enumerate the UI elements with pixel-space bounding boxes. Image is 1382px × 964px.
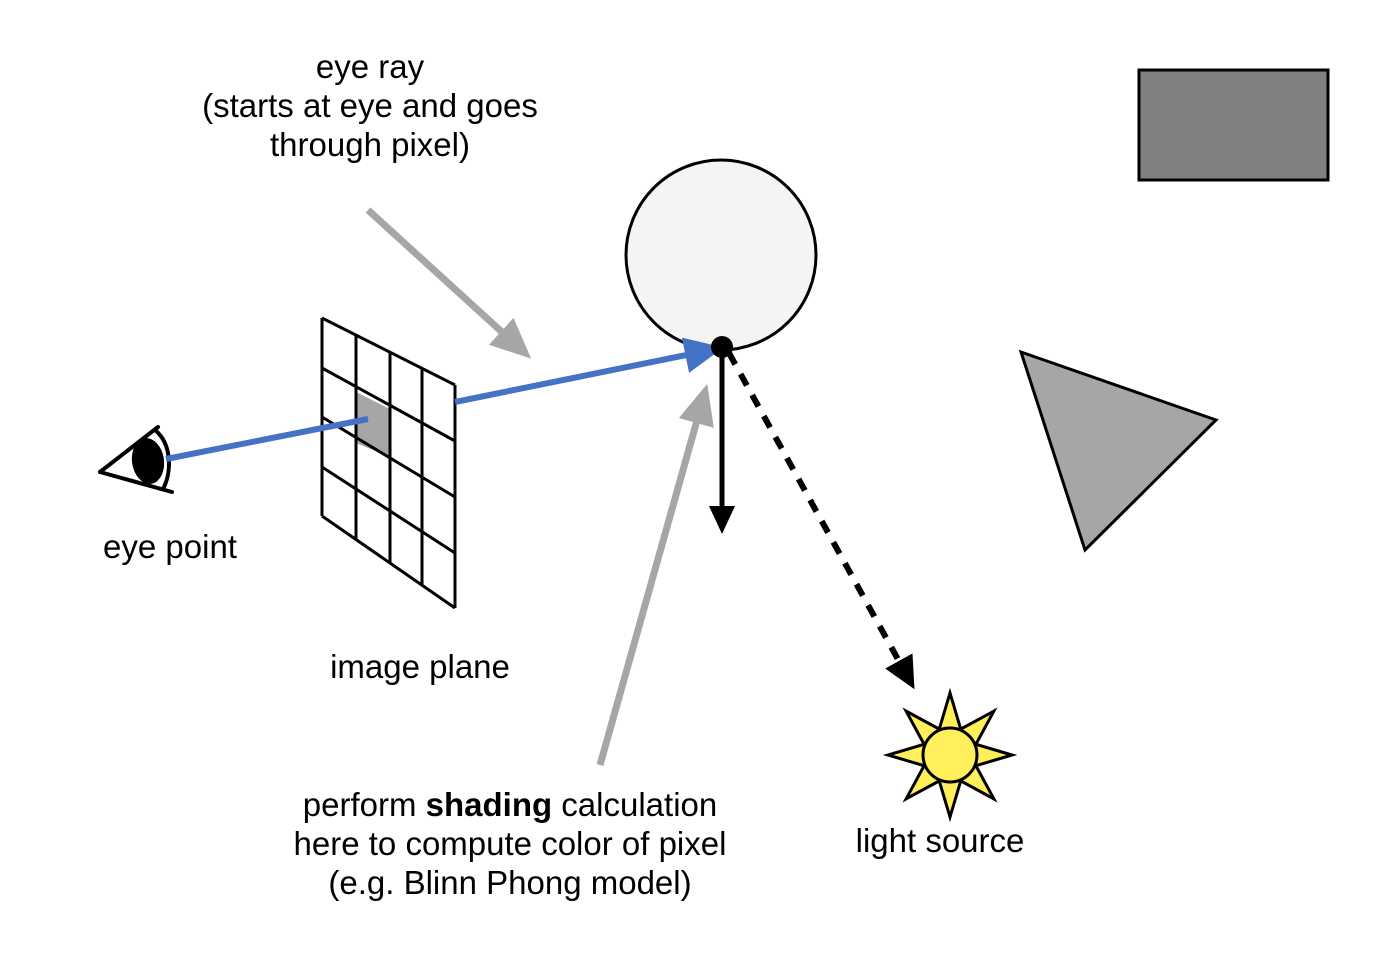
label-eye-point: eye point [0,528,340,567]
label-shading-line-2: here to compute color of pixel [180,825,840,864]
image-plane-grid [322,318,455,608]
rectangle-shape [1139,70,1328,180]
annotation-arrow-shading [600,392,705,765]
label-shading-line-1: perform shading calculation [180,786,840,825]
label-eye-point-text: eye point [0,528,340,567]
label-eye-ray-line-2: (starts at eye and goes [60,87,680,126]
sphere-shape [626,160,816,350]
ray-tracing-diagram: eye ray (starts at eye and goes through … [0,0,1382,964]
label-shading-keyword: shading [426,786,553,823]
sun-icon [888,693,1012,817]
label-light-source: light source [790,822,1090,861]
label-shading-annotation: perform shading calculation here to comp… [180,786,840,903]
triangle-shape [1021,352,1216,550]
label-shading-post: calculation [552,786,717,823]
label-eye-ray: eye ray (starts at eye and goes through … [60,48,680,165]
label-light-source-text: light source [790,822,1090,861]
label-shading-pre: perform [303,786,426,823]
sun-disc [923,728,977,782]
shadow-ray-arrow [729,353,911,683]
eye-icon [100,427,172,492]
eye-ray-segment-to-sphere [455,349,716,402]
annotation-arrow-eye-ray [368,210,525,353]
label-shading-line-3: (e.g. Blinn Phong model) [180,864,840,903]
scene-objects [1021,70,1328,550]
eye-ray [166,349,716,459]
label-eye-ray-line-3: through pixel) [60,126,680,165]
label-image-plane: image plane [180,648,660,687]
label-eye-ray-line-1: eye ray [60,48,680,87]
eye-ray-segment-to-plane [166,419,368,459]
label-image-plane-text: image plane [180,648,660,687]
